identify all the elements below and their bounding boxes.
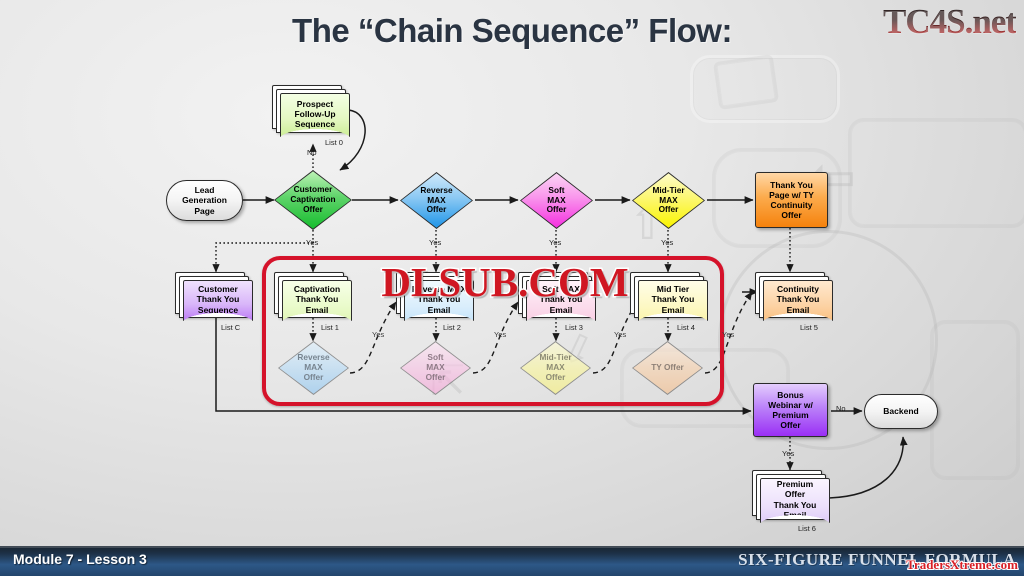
- page-title: The “Chain Sequence” Flow:: [0, 12, 1024, 50]
- node-reverse-max-offer[interactable]: Reverse MAX Offer: [400, 172, 473, 229]
- list-label-2: List 2: [443, 323, 461, 332]
- edge-label-no-backend: No: [836, 404, 846, 413]
- bg-watermark-shape: [713, 54, 779, 110]
- bg-watermark-shape: [848, 118, 1024, 228]
- bg-watermark-shape: [690, 55, 840, 123]
- node-label: Captivation Thank You Email: [294, 284, 340, 315]
- doc-front: Continuity Thank You Email: [763, 280, 833, 324]
- node-bonus-webinar[interactable]: Bonus Webinar w/ Premium Offer: [753, 383, 828, 437]
- bg-watermark-shape: [930, 320, 1020, 480]
- node-label: Premium Offer Thank You Email: [774, 479, 817, 520]
- module-lesson-label: Module 7 - Lesson 3: [13, 551, 147, 567]
- edge-label-yes-midtier: Yes: [661, 238, 673, 247]
- node-captivation-thank-you-email[interactable]: Captivation Thank You Email: [274, 272, 352, 324]
- node-mid-tier-max-offer-2[interactable]: Mid-Tier MAX Offer: [520, 341, 591, 395]
- edge-label-no-followup: No: [307, 148, 317, 157]
- node-label: Reverse MAX Offer: [278, 341, 349, 395]
- node-label: Backend: [883, 406, 918, 416]
- node-customer-captivation-offer[interactable]: Customer Captivation Offer: [274, 170, 352, 230]
- edge-label-yes-branch-1: Yes: [372, 330, 384, 339]
- node-label: Mid-Tier MAX Offer: [632, 172, 705, 229]
- watermark-dlsub: DLSUB.COM: [352, 258, 658, 306]
- node-label: Customer Captivation Offer: [274, 170, 352, 230]
- edge-label-yes-branch-4: Yes: [722, 330, 734, 339]
- node-label: Prospect Follow-Up Sequence: [294, 99, 335, 130]
- node-reverse-max-offer-2[interactable]: Reverse MAX Offer: [278, 341, 349, 395]
- site-logo: TC4S.net: [883, 2, 1016, 42]
- doc-front: Customer Thank You Sequence: [183, 280, 253, 324]
- footer-bar: Module 7 - Lesson 3 SIX-FIGURE FUNNEL FO…: [0, 546, 1024, 576]
- list-label-4: List 4: [677, 323, 695, 332]
- node-mid-tier-max-offer[interactable]: Mid-Tier MAX Offer: [632, 172, 705, 229]
- node-premium-offer-thank-you-email[interactable]: Premium Offer Thank You Email: [752, 470, 830, 526]
- node-label: TY Offer: [632, 341, 703, 395]
- list-label-3: List 3: [565, 323, 583, 332]
- edge-label-yes-reverse: Yes: [429, 238, 441, 247]
- edge-label-yes-branch-3: Yes: [614, 330, 626, 339]
- list-label-c: List C: [221, 323, 240, 332]
- node-label: Customer Thank You Sequence: [197, 284, 240, 315]
- node-label: Mid Tier Thank You Email: [652, 284, 695, 315]
- node-continuity-thank-you-email[interactable]: Continuity Thank You Email: [755, 272, 833, 324]
- edge-label-yes-soft: Yes: [549, 238, 561, 247]
- node-label: Thank You Page w/ TY Continuity Offer: [769, 180, 814, 220]
- node-label: Soft MAX Offer: [520, 172, 593, 229]
- list-label-5: List 5: [800, 323, 818, 332]
- node-soft-max-offer-2[interactable]: Soft MAX Offer: [400, 341, 471, 395]
- list-label-1: List 1: [321, 323, 339, 332]
- node-ty-offer[interactable]: TY Offer: [632, 341, 703, 395]
- node-label: Bonus Webinar w/ Premium Offer: [768, 390, 813, 430]
- node-customer-thank-you-sequence[interactable]: Customer Thank You Sequence: [175, 272, 253, 324]
- slide-canvas: ⇦ ⇧ ⇩ ⇱ The “Chain Sequence” Flow: TC4S.…: [0, 0, 1024, 576]
- edge-label-yes-premium: Yes: [782, 449, 794, 458]
- node-soft-max-offer[interactable]: Soft MAX Offer: [520, 172, 593, 229]
- edge-label-yes-branch-2: Yes: [494, 330, 506, 339]
- node-label: Soft MAX Offer: [400, 341, 471, 395]
- node-label: Mid-Tier MAX Offer: [520, 341, 591, 395]
- edge-label-yes-captivation: Yes: [306, 238, 318, 247]
- doc-front: Captivation Thank You Email: [282, 280, 352, 324]
- node-thank-you-page[interactable]: Thank You Page w/ TY Continuity Offer: [755, 172, 828, 228]
- watermark-tradersxtreme: TradersXtreme.com: [906, 557, 1018, 573]
- node-backend[interactable]: Backend: [864, 394, 938, 429]
- node-label: Continuity Thank You Email: [777, 284, 820, 315]
- doc-front: Prospect Follow-Up Sequence: [280, 93, 350, 140]
- list-label-0: List 0: [325, 138, 343, 147]
- node-prospect-followup-sequence[interactable]: Prospect Follow-Up Sequence: [272, 85, 350, 140]
- node-label: Lead Generation Page: [182, 185, 227, 215]
- list-label-6: List 6: [798, 524, 816, 533]
- node-lead-generation-page[interactable]: Lead Generation Page: [166, 180, 243, 221]
- node-label: Reverse MAX Offer: [400, 172, 473, 229]
- doc-front: Premium Offer Thank You Email: [760, 478, 830, 526]
